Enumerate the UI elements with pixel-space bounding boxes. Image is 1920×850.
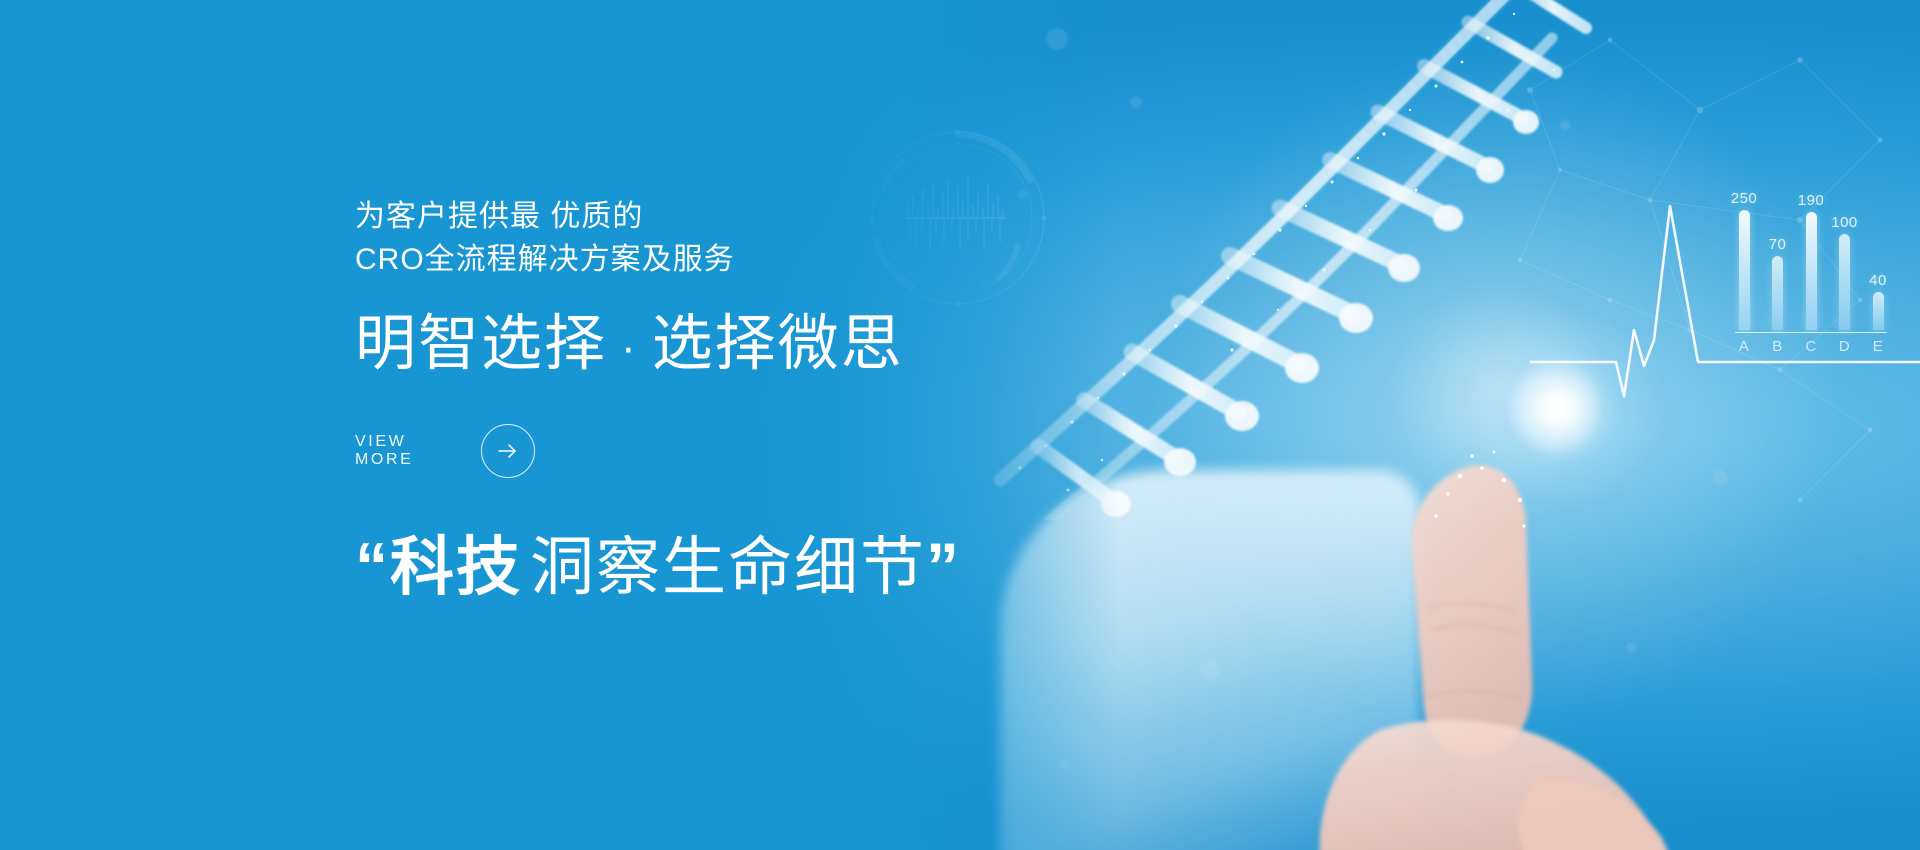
bar-chart: 250 70 190 100 40 A B C <box>1735 190 1915 380</box>
hero-copy: 为客户提供最 优质的 CRO全流程解决方案及服务 明智选择·选择微思 VIEW … <box>355 196 1115 602</box>
bar-column: 40 <box>1869 190 1887 330</box>
view-more-label: VIEW MORE <box>355 433 459 469</box>
arrow-right-icon[interactable] <box>481 424 535 478</box>
bar-rect <box>1739 210 1750 330</box>
bar-chart-axis <box>1735 332 1887 333</box>
bar-value-label: 40 <box>1869 272 1887 289</box>
bar-category-label: B <box>1769 338 1787 355</box>
pointing-hand-icon <box>1020 430 1720 850</box>
subtitle-line-2: CRO全流程解决方案及服务 <box>355 239 1115 282</box>
bar-value-label: 70 <box>1769 236 1787 253</box>
tagline-quote: “科技洞察生命细节” <box>355 530 1115 603</box>
quote-open-mark: “ <box>355 529 390 603</box>
bar-rect <box>1839 234 1850 330</box>
bar-rect <box>1772 256 1783 330</box>
view-more-button[interactable]: VIEW MORE <box>355 424 535 478</box>
bar-rect <box>1806 212 1817 330</box>
bar-value-label: 190 <box>1798 192 1825 209</box>
headline-separator: · <box>607 323 652 372</box>
subtitle-line-1: 为客户提供最 优质的 <box>355 196 1115 239</box>
bar-column: 190 <box>1802 190 1820 330</box>
bar-category-label: A <box>1735 338 1753 355</box>
bar-column: 100 <box>1836 190 1854 330</box>
bar-chart-categories: A B C D E <box>1735 338 1887 355</box>
quote-strong-text: 科技 <box>390 531 522 603</box>
quote-close-mark: ” <box>926 529 961 603</box>
bar-chart-plot: 250 70 190 100 40 <box>1735 190 1887 330</box>
bar-value-label: 250 <box>1731 190 1758 207</box>
bar-category-label: D <box>1836 338 1854 355</box>
bar-column: 250 <box>1735 190 1753 330</box>
bar-rect <box>1873 292 1884 330</box>
bar-value-label: 100 <box>1831 214 1858 231</box>
page-title: 明智选择·选择微思 <box>355 309 1115 377</box>
bar-column: 70 <box>1769 190 1787 330</box>
hero-banner: 250 70 190 100 40 A B C <box>0 0 1920 850</box>
headline-right: 选择微思 <box>652 309 904 377</box>
bar-category-label: C <box>1802 338 1820 355</box>
quote-light-text: 洞察生命细节 <box>522 531 926 603</box>
headline-left: 明智选择 <box>355 309 607 377</box>
bar-category-label: E <box>1869 338 1887 355</box>
